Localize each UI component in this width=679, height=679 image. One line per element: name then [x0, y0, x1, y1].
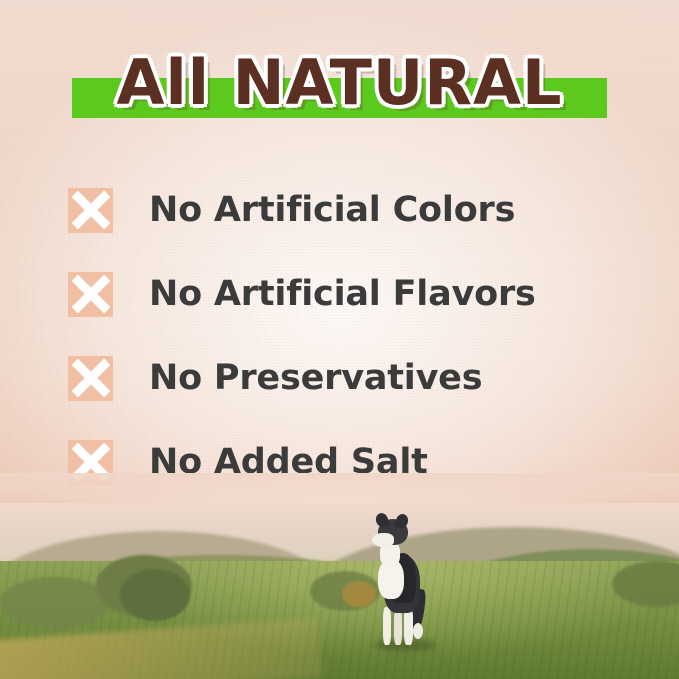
dog-leg: [383, 607, 391, 645]
claim-label: No Artificial Colors: [149, 190, 515, 230]
landscape-photo: [0, 503, 679, 679]
x-mark-icon: [68, 356, 113, 401]
list-item: No Added Salt: [68, 420, 628, 504]
claims-list: No Artificial Colors No Artificial Flavo…: [68, 168, 628, 504]
dog-ear: [394, 513, 409, 530]
product-feature-card: All NATURAL No Artificial Colors No Arti…: [0, 0, 679, 679]
border-collie-dog: [356, 511, 446, 661]
dog-muzzle: [372, 533, 394, 547]
banner-title: All NATURAL: [0, 46, 679, 119]
dog-leg: [394, 609, 402, 645]
bush: [120, 569, 190, 621]
list-item: No Artificial Colors: [68, 168, 628, 252]
list-item: No Artificial Flavors: [68, 252, 628, 336]
x-mark-icon: [68, 440, 113, 485]
list-item: No Preservatives: [68, 336, 628, 420]
claim-label: No Added Salt: [149, 442, 428, 482]
x-mark-icon: [68, 272, 113, 317]
bush: [0, 577, 110, 629]
claim-label: No Preservatives: [149, 358, 482, 398]
claim-label: No Artificial Flavors: [149, 274, 536, 314]
x-mark-icon: [68, 188, 113, 233]
dog-tail-tip: [413, 623, 423, 639]
